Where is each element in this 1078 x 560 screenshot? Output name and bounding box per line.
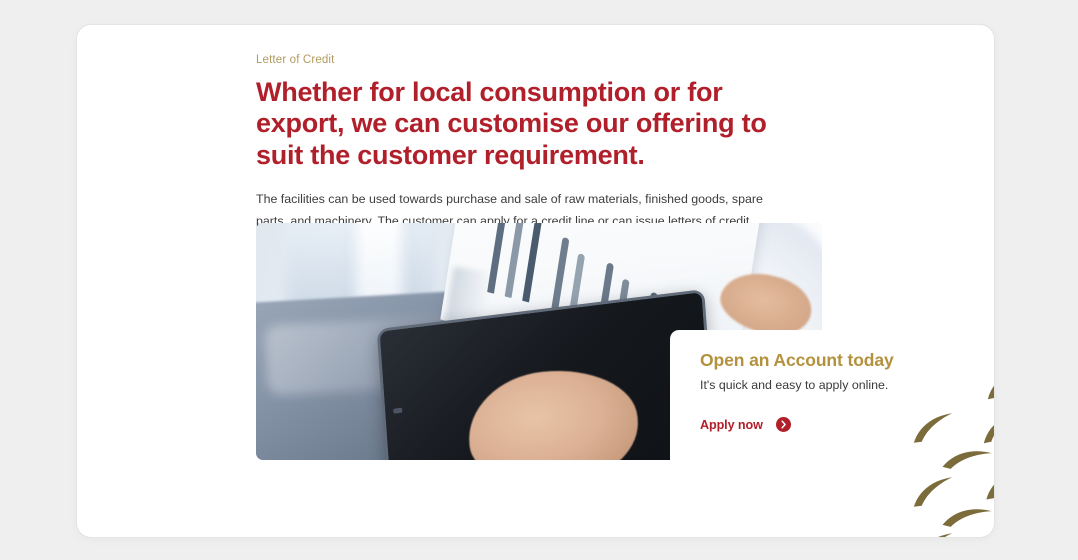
page-container: Letter of Credit Whether for local consu…	[77, 25, 994, 537]
cta-title: Open an Account today	[700, 350, 894, 371]
apply-now-link[interactable]: Apply now	[700, 417, 791, 432]
swoosh-shape-icon	[941, 499, 992, 537]
media-block: Open an Account today It's quick and eas…	[256, 223, 822, 460]
photo-chart-bar	[522, 223, 543, 302]
swoosh-shape-icon	[981, 523, 994, 537]
swoosh-shape-icon	[981, 467, 994, 500]
page-title: Whether for local consumption or for exp…	[256, 77, 801, 171]
apply-now-label: Apply now	[700, 418, 763, 432]
eyebrow-label: Letter of Credit	[256, 53, 856, 67]
chevron-right-circle-icon	[776, 417, 791, 432]
swoosh-shape-icon	[909, 532, 956, 537]
open-account-card: Open an Account today It's quick and eas…	[670, 330, 994, 460]
photo-chart-bar	[551, 237, 569, 310]
cta-subtitle: It's quick and easy to apply online.	[700, 378, 888, 392]
swoosh-shape-icon	[909, 476, 956, 508]
